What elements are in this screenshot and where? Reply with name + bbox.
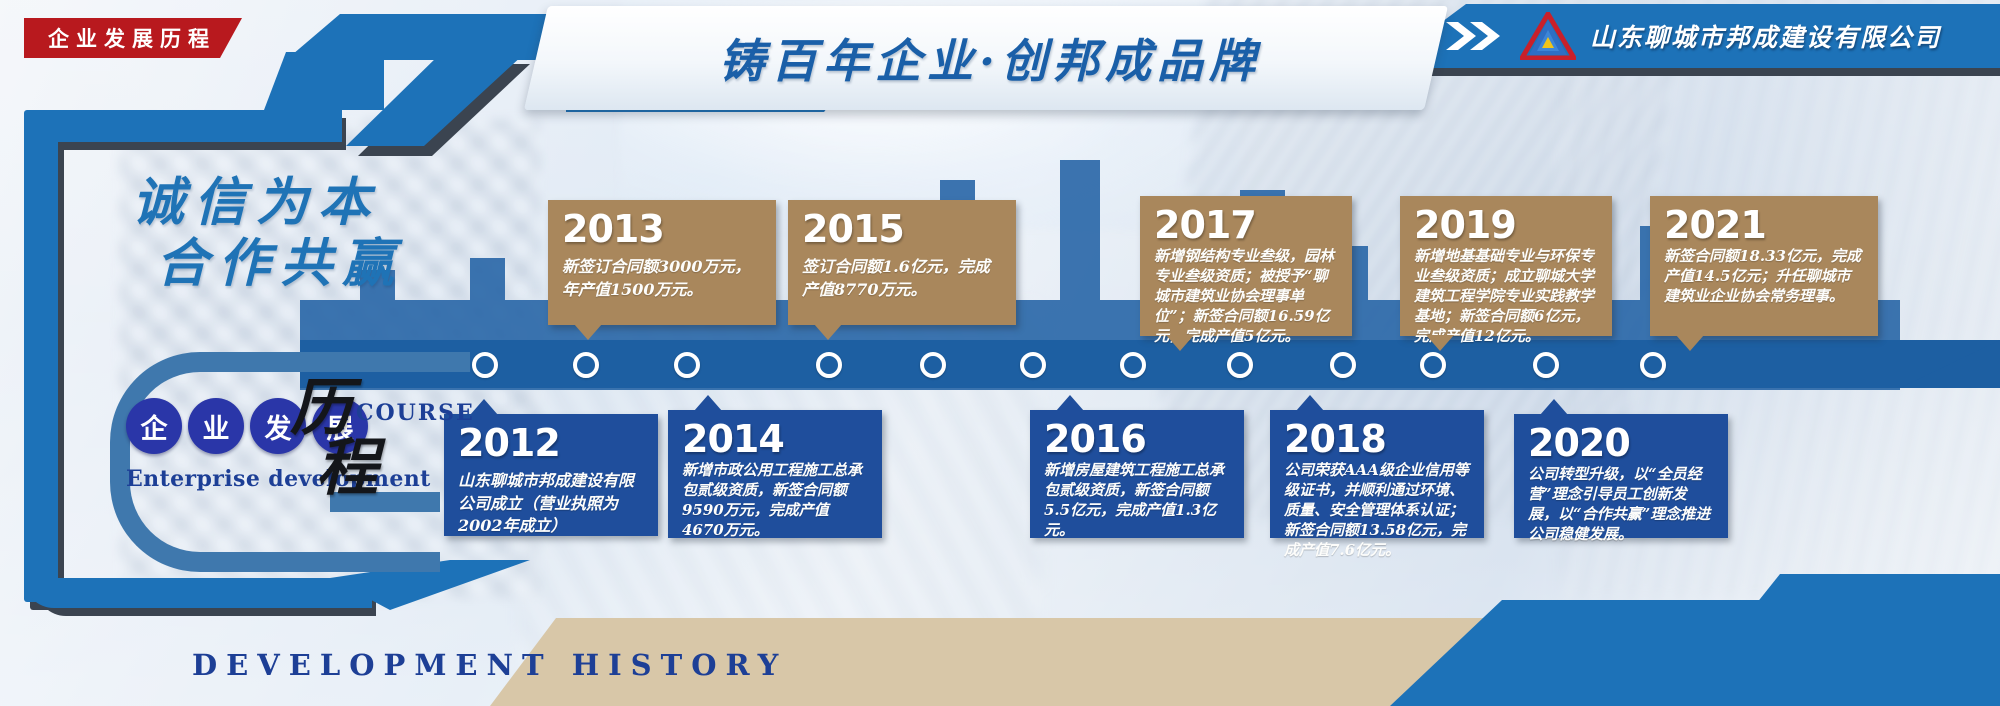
timeline-card-year-2019: 2019 <box>1414 206 1598 244</box>
timeline-card-pointer-2016 <box>1056 395 1084 411</box>
badge-course-label: COURSE <box>356 400 475 426</box>
timeline-node-5[interactable] <box>920 352 946 378</box>
timeline-node-9[interactable] <box>1330 352 1356 378</box>
timeline-card-2018[interactable]: 2018公司荣获AAA级企业信用等级证书，并顺利通过环境、质量、安全管理体系认证… <box>1270 410 1484 538</box>
footer-english-title: DEVELOPMENT HISTORY <box>192 648 787 682</box>
frame-left <box>24 110 58 602</box>
timeline-node-11[interactable] <box>1533 352 1559 378</box>
timeline-card-pointer-2015 <box>814 324 842 340</box>
timeline-card-body-2020: 公司转型升级，以“全员经营”理念引导员工创新发展，以“合作共赢”理念推进公司稳健… <box>1528 464 1714 544</box>
badge-circle-2: 业 <box>188 398 244 454</box>
frame-top <box>24 110 342 142</box>
timeline-card-body-2013: 新签订合同额3000万元，年产值1500万元。 <box>562 256 762 301</box>
timeline-card-2012[interactable]: 2012山东聊城市邦成建设有限公司成立（营业执照为2002年成立） <box>444 414 658 536</box>
timeline-card-body-2019: 新增地基基础专业与环保专业叁级资质；成立聊城大学建筑工程学院专业实践教学基地；新… <box>1414 246 1598 346</box>
timeline-node-7[interactable] <box>1120 352 1146 378</box>
timeline-card-year-2013: 2013 <box>562 210 762 248</box>
badge-loop-tail-top <box>330 352 470 372</box>
timeline-card-year-2017: 2017 <box>1154 206 1338 244</box>
timeline-card-year-2016: 2016 <box>1044 420 1230 458</box>
section-ribbon-tag: 企业发展历程 <box>24 18 242 58</box>
left-slogan-line1: 诚信为本 <box>132 172 404 233</box>
timeline-card-body-2012: 山东聊城市邦成建设有限公司成立（营业执照为2002年成立） <box>458 470 644 538</box>
timeline-card-2019[interactable]: 2019新增地基基础专业与环保专业叁级资质；成立聊城大学建筑工程学院专业实践教学… <box>1400 196 1612 336</box>
timeline-card-2014[interactable]: 2014新增市政公用工程施工总承包贰级资质，新签合同额9590万元，完成产值46… <box>668 410 882 538</box>
timeline-node-4[interactable] <box>816 352 842 378</box>
timeline-card-2013[interactable]: 2013新签订合同额3000万元，年产值1500万元。 <box>548 200 776 325</box>
timeline-card-pointer-2021 <box>1676 335 1704 351</box>
left-slogan: 诚信为本 合作共赢 <box>132 172 404 295</box>
timeline-node-3[interactable] <box>674 352 700 378</box>
timeline-card-2015[interactable]: 2015签订合同额1.6亿元，完成产值8770万元。 <box>788 200 1016 325</box>
timeline-card-year-2015: 2015 <box>802 210 1002 248</box>
double-chevron-right-icon <box>1444 18 1506 54</box>
timeline-node-8[interactable] <box>1227 352 1253 378</box>
timeline-card-pointer-2019 <box>1426 335 1454 351</box>
timeline-card-pointer-2017 <box>1166 335 1194 351</box>
badge-calligraphy-line2: 程 <box>316 438 378 498</box>
timeline-card-2016[interactable]: 2016新增房屋建筑工程施工总承包贰级资质，新签合同额5.5亿元，完成产值1.3… <box>1030 410 1244 538</box>
timeline-node-12[interactable] <box>1640 352 1666 378</box>
frame-bottom <box>24 578 372 608</box>
timeline-card-pointer-2014 <box>694 395 722 411</box>
timeline-node-10[interactable] <box>1420 352 1446 378</box>
timeline-card-pointer-2018 <box>1296 395 1324 411</box>
infographic-canvas: 铸百年企业·创邦成品牌 山东聊城市邦成建设有限公司 企业发展历程 诚信为本 合作… <box>0 0 2000 706</box>
timeline-card-2017[interactable]: 2017新增钢结构专业叁级，园林专业叁级资质；被授予“聊城市建筑业协会理事单位”… <box>1140 196 1352 336</box>
banner-slogan: 铸百年企业·创邦成品牌 <box>600 18 1380 98</box>
header-right-content: 山东聊城市邦成建设有限公司 <box>1444 8 2000 64</box>
timeline-card-body-2014: 新增市政公用工程施工总承包贰级资质，新签合同额9590万元，完成产值4670万元… <box>682 460 868 540</box>
timeline-card-year-2018: 2018 <box>1284 420 1470 458</box>
timeline-bar <box>300 340 2000 388</box>
badge-calligraphy: 历 程 <box>290 378 378 497</box>
section-ribbon-label: 企业发展历程 <box>48 23 216 53</box>
badge-circle-1: 企 <box>126 398 182 454</box>
timeline-card-year-2014: 2014 <box>682 420 868 458</box>
company-name: 山东聊城市邦成建设有限公司 <box>1590 18 1941 54</box>
timeline-card-pointer-2020 <box>1540 399 1568 415</box>
timeline-card-year-2020: 2020 <box>1528 424 1714 462</box>
timeline-card-year-2021: 2021 <box>1664 206 1864 244</box>
badge-english-label: Enterprise development <box>126 466 431 492</box>
timeline-card-body-2015: 签订合同额1.6亿元，完成产值8770万元。 <box>802 256 1002 301</box>
timeline-card-body-2016: 新增房屋建筑工程施工总承包贰级资质，新签合同额5.5亿元，完成产值1.3亿元。 <box>1044 460 1230 540</box>
timeline-node-6[interactable] <box>1020 352 1046 378</box>
timeline-card-body-2018: 公司荣获AAA级企业信用等级证书，并顺利通过环境、质量、安全管理体系认证；新签合… <box>1284 460 1470 560</box>
timeline-node-2[interactable] <box>573 352 599 378</box>
banner-slogan-text: 铸百年企业·创邦成品牌 <box>719 25 1261 91</box>
timeline-node-1[interactable] <box>472 352 498 378</box>
timeline-card-2021[interactable]: 2021新签合同额18.33亿元，完成产值14.5亿元；升任聊城市建筑业企业协会… <box>1650 196 1878 336</box>
left-slogan-line2: 合作共赢 <box>156 233 404 294</box>
triangle-logo-icon <box>1520 12 1576 60</box>
timeline-card-body-2017: 新增钢结构专业叁级，园林专业叁级资质；被授予“聊城市建筑业协会理事单位”；新签合… <box>1154 246 1338 346</box>
timeline-card-2020[interactable]: 2020公司转型升级，以“全员经营”理念引导员工创新发展，以“合作共赢”理念推进… <box>1514 414 1728 538</box>
timeline-card-year-2012: 2012 <box>458 424 644 462</box>
timeline-card-pointer-2013 <box>574 324 602 340</box>
timeline-card-body-2021: 新签合同额18.33亿元，完成产值14.5亿元；升任聊城市建筑业企业协会常务理事… <box>1664 246 1864 306</box>
